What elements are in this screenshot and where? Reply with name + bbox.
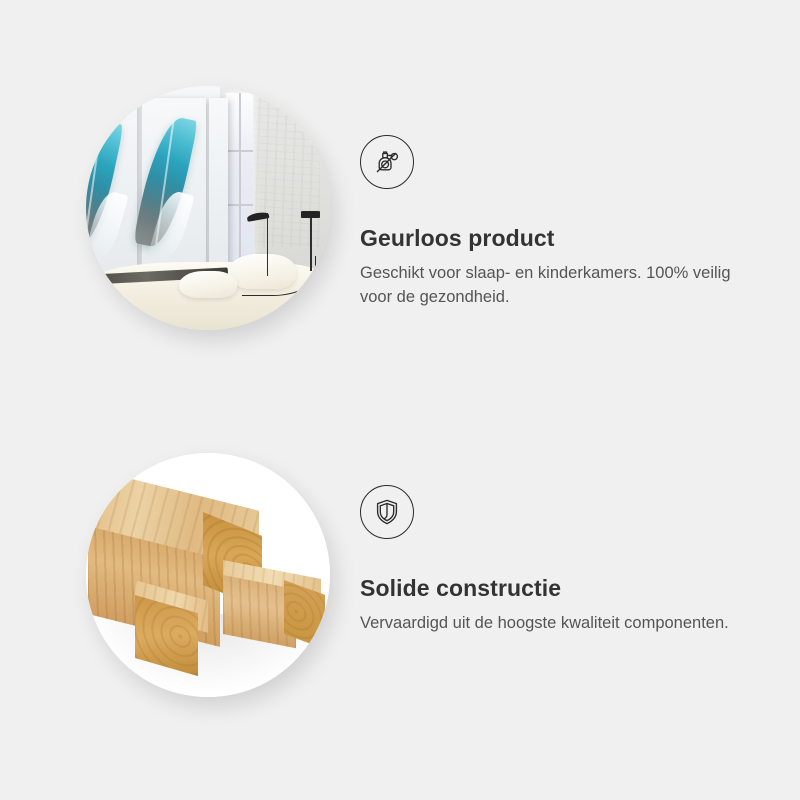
feature-text-column: Solide constructie Vervaardigd uit de ho… (360, 485, 760, 636)
no-perfume-icon (360, 135, 414, 189)
feature-description: Vervaardigd uit de hoogste kwaliteit com… (360, 612, 750, 636)
feature-text-column: Geurloos product Geschikt voor slaap- en… (360, 135, 760, 309)
feature-block-odourless-product: Geurloos product Geschikt voor slaap- en… (0, 70, 800, 370)
feature-image-bedroom-with-feather-canvas (86, 86, 330, 330)
no-perfume-glyph (370, 145, 404, 179)
feature-description: Geschikt voor slaap- en kinderkamers. 10… (360, 262, 750, 310)
wooden-beams-scene (86, 453, 330, 697)
circular-photo-frame (86, 453, 330, 697)
canvas-panel-left (86, 98, 137, 276)
product-feature-banner: Geurloos product Geschikt voor slaap- en… (0, 0, 800, 800)
feature-title: Geurloos product (360, 225, 760, 253)
floor-lamp-shade (301, 211, 321, 217)
canvas-panel-right (209, 98, 227, 276)
shield-glyph (370, 495, 404, 529)
feature-block-solid-construction: Solide constructie Vervaardigd uit de ho… (0, 437, 800, 737)
bedroom-scene (86, 86, 330, 330)
feature-title: Solide constructie (360, 575, 760, 603)
window (226, 93, 253, 269)
canvas-panel-middle (142, 98, 205, 276)
shield-icon (360, 485, 414, 539)
circular-photo-frame (86, 86, 330, 330)
window-mullion (239, 93, 241, 269)
feature-image-wooden-beams (86, 453, 330, 697)
pillow (179, 271, 238, 298)
